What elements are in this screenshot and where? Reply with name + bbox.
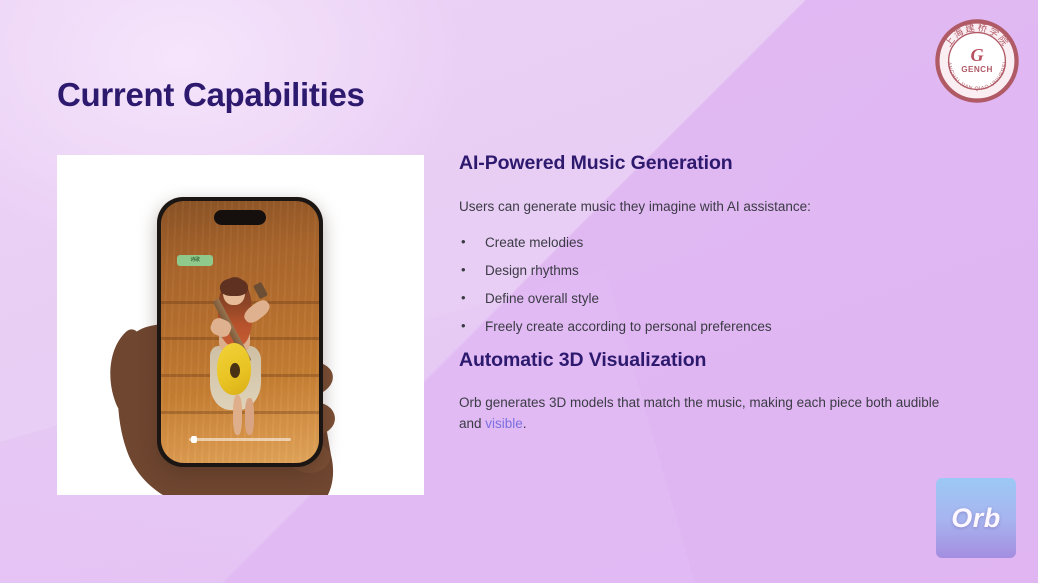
page-title: Current Capabilities xyxy=(57,76,365,114)
content-column: AI-Powered Music Generation Users can ge… xyxy=(459,152,964,434)
seal-icon: 上海建桥学院 SHANGHAI JIAN QIAO UNIVERSITY G G… xyxy=(934,18,1020,104)
list-item: Freely create according to personal pref… xyxy=(459,319,964,334)
product-image-card: 诗歌 xyxy=(57,155,424,495)
orb-logo-label: Orb xyxy=(951,503,1001,534)
phone-green-badge: 诗歌 xyxy=(177,255,213,266)
slide-canvas: Current Capabilities 上海建桥学院 SHANGHAI JIA… xyxy=(0,0,1038,583)
section-heading-music-generation: AI-Powered Music Generation xyxy=(459,152,964,175)
capability-bullet-list: Create melodies Design rhythms Define ov… xyxy=(459,235,964,334)
guitar-player-figure xyxy=(202,280,284,432)
orb-app-logo: Orb xyxy=(936,478,1016,558)
svg-text:GENCH: GENCH xyxy=(961,65,993,74)
figure-leg xyxy=(245,398,254,434)
figure-hair-front xyxy=(220,278,248,296)
section-intro-text: Users can generate music they imagine wi… xyxy=(459,197,964,217)
guitar-headstock xyxy=(253,281,268,299)
university-seal-logo: 上海建桥学院 SHANGHAI JIAN QIAO UNIVERSITY G G… xyxy=(934,18,1020,104)
playback-slider[interactable] xyxy=(189,438,290,441)
list-item: Design rhythms xyxy=(459,263,964,278)
list-item: Create melodies xyxy=(459,235,964,250)
section-paragraph-3d: Orb generates 3D models that match the m… xyxy=(459,393,959,434)
paragraph-text-after: . xyxy=(523,416,527,431)
guitar-soundhole xyxy=(230,363,240,378)
section-heading-3d-visualization: Automatic 3D Visualization xyxy=(459,349,964,372)
dynamic-island xyxy=(214,210,266,225)
svg-text:G: G xyxy=(970,45,983,65)
figure-leg xyxy=(233,395,242,435)
phone-in-hand-photo: 诗歌 xyxy=(57,155,424,495)
phone-screen: 诗歌 xyxy=(161,201,319,463)
paragraph-text-before: Orb generates 3D models that match the m… xyxy=(459,395,939,430)
list-item: Define overall style xyxy=(459,291,964,306)
highlighted-word: visible xyxy=(485,416,523,431)
smartphone-device: 诗歌 xyxy=(157,197,323,467)
playback-slider-knob[interactable] xyxy=(191,436,197,443)
